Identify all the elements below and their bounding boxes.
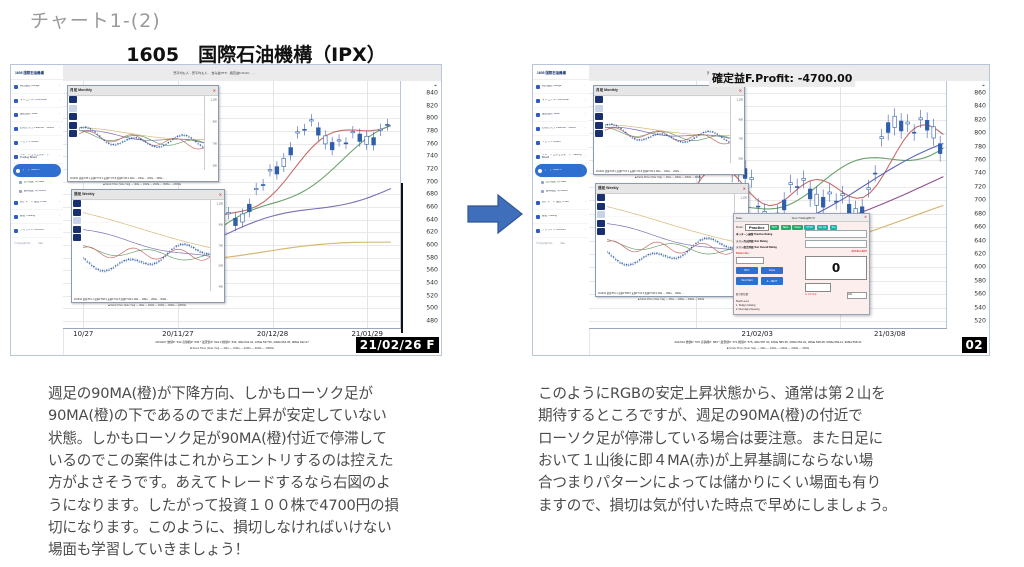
- candle-body: [240, 214, 244, 222]
- right-caption: このようにRGBの安定上昇状態から、通常は第２山を 期待するところですが、週足の…: [538, 383, 968, 517]
- chip-sell[interactable]: SELL: [781, 225, 791, 230]
- right-app-sidebar: 1605 国際石油機構 初回設定 Range › マニュアル Thumbnail…: [533, 65, 590, 355]
- mini-chart-svg: [79, 96, 205, 170]
- candle-body: [227, 213, 231, 214]
- sidebar-item-label: 各チャート 設定 Chart: [20, 201, 57, 204]
- account-icon: [536, 229, 540, 233]
- ma-line: [607, 241, 735, 255]
- chip-close[interactable]: Close: [792, 225, 802, 230]
- chevron-right-icon: ›: [585, 229, 586, 232]
- reset-icon: [14, 141, 18, 145]
- star-icon: [536, 127, 540, 131]
- candle-body: [841, 194, 845, 196]
- unit-value[interactable]: 100: [847, 292, 867, 299]
- sidebar-item-label: 設定選択 Seek: [542, 113, 583, 116]
- sidebar-item-seek[interactable]: 設定選択 Seek ›: [533, 108, 589, 122]
- candle-body: [795, 187, 799, 188]
- date-tick: 10/27: [73, 330, 93, 338]
- close-icon[interactable]: ✕: [743, 187, 746, 191]
- chevron-right-icon: ›: [585, 215, 586, 218]
- panel-price-tick: 900: [219, 223, 223, 226]
- sidebar-item-label: 練習 Trading: [20, 215, 57, 218]
- range-icon: [14, 85, 18, 89]
- price-tick: 640: [974, 237, 986, 244]
- candle-body: [821, 197, 825, 207]
- candle-body: [906, 122, 910, 124]
- panel-price-tick: 500: [213, 165, 217, 168]
- account-icon: [14, 229, 18, 233]
- sidebar-item-practice-trading[interactable]: 練習 Trading ›: [533, 210, 589, 224]
- panel-price-tick: 500: [739, 158, 743, 161]
- price-tick: 580: [974, 277, 986, 284]
- calendar-icon: [19, 181, 22, 184]
- sidebar-item-label: トレードエスエスボード Trading Board: [20, 154, 57, 160]
- sidebar-item-reset[interactable]: リセット Reset: [533, 136, 589, 150]
- calendar-icon: [541, 181, 544, 184]
- tool-button[interactable]: [597, 203, 605, 210]
- candle-body: [893, 116, 897, 127]
- price-tick: 720: [974, 183, 986, 190]
- sidebar-item-range[interactable]: 初回設定 Range ›: [533, 80, 589, 94]
- right-date-badge: 02: [962, 337, 988, 353]
- dialog-footer: 取引単位数: 100 Stock Level: 1. Today's Closi…: [736, 292, 867, 312]
- sidebar-item-label: 初回設定 Range: [20, 85, 57, 88]
- board-icon: [536, 155, 540, 159]
- dialog-right-column: EXCELLENT 0 ※ 1/1 Only: [805, 230, 867, 296]
- ma-line: [607, 240, 735, 254]
- tool-button[interactable]: [73, 209, 81, 216]
- mini-chart-svg: [607, 194, 735, 285]
- price-tick: 780: [974, 143, 986, 150]
- right-price-axis: ⌖ 86084082080078076074072070068066064062…: [946, 81, 989, 329]
- chevron-right-icon: ›: [585, 113, 586, 116]
- price-tick: 660: [974, 224, 986, 231]
- chart-icon: [14, 201, 18, 205]
- tool-button[interactable]: [597, 228, 605, 235]
- candle-body: [808, 189, 812, 199]
- left-app-sidebar: 1605 国際石油機構 初回設定 Range › マニュアル Thumbnail…: [11, 65, 64, 355]
- candle-body: [782, 200, 786, 210]
- left-app-brand: 1605 国際石油機構: [11, 65, 63, 80]
- sidebar-item-chart-settings[interactable]: 各チャート 設定 Chart ›: [11, 196, 63, 210]
- candle-body: [365, 136, 369, 144]
- price-tick: 680: [426, 191, 438, 198]
- price-tick: 580: [426, 254, 438, 261]
- left-chart-screenshot: 1605 国際石油機構 初回設定 Range › マニュアル Thumbnail…: [10, 64, 442, 356]
- price-tick: 500: [426, 305, 438, 312]
- sidebar-item-label: 初回設定 Range: [542, 85, 583, 88]
- left-price-axis: ⌖ 84082080078076074072070068066064062060…: [400, 81, 441, 329]
- left-weekly-panel[interactable]: 週足 Weekly ✕ 1,100900700500400 2019/11 始値…: [71, 189, 225, 303]
- candle-body: [234, 218, 238, 225]
- candle-body: [254, 188, 258, 189]
- panel-price-tick: 900: [739, 118, 743, 121]
- price-tick: 620: [974, 250, 986, 257]
- slide: チャート1-(2) 1605 国際石油機構（IPX） 1605 国際石油機構 初…: [0, 0, 1024, 567]
- candle-body: [275, 167, 279, 174]
- sidebar-item-label: サーチ Search: [544, 169, 581, 172]
- panel-price-tick: 1,100: [737, 99, 744, 102]
- right-weekly-panel[interactable]: 週足 Weekly ✕ 1,100900700500400 2019/11 始値…: [595, 183, 749, 297]
- sidebar-item-label: リセット Reset: [542, 141, 584, 144]
- price-tick: 800: [974, 130, 986, 137]
- panel-title: 週足 Weekly: [74, 192, 95, 197]
- tool-button[interactable]: [69, 122, 77, 129]
- panel-footer: 2019/11 始値 551.1 高値P 568.0 安値P 512.5 終値P…: [74, 297, 222, 301]
- reset-icon: [536, 141, 540, 145]
- chevron-right-icon: ›: [59, 85, 60, 88]
- panel-toolbar[interactable]: [597, 194, 605, 237]
- ma-line: [607, 207, 735, 242]
- panel-plot: [79, 96, 205, 170]
- price-tick: 700: [426, 178, 438, 185]
- tool-button[interactable]: [597, 194, 605, 201]
- chevron-right-icon: ›: [59, 127, 60, 130]
- panel-plot: [83, 200, 211, 291]
- price-tick: 820: [426, 102, 438, 109]
- price-tick: 600: [974, 264, 986, 271]
- sidebar-item-account[interactable]: アカウント Account ›: [11, 224, 63, 238]
- trade-icon: [14, 215, 18, 219]
- price-tick: 820: [974, 116, 986, 123]
- price-tick: 840: [974, 103, 986, 110]
- candle-body: [912, 132, 916, 133]
- sidebar-item-label: リセット Reset: [20, 141, 58, 144]
- price-tick: 740: [426, 153, 438, 160]
- dialog-left-column: 本リターン練習 Practice Rating テスト売出評価 Test Rat…: [736, 232, 798, 285]
- close-icon[interactable]: ✕: [864, 216, 867, 219]
- crosshair-icon: ⌖: [434, 83, 437, 89]
- todays-closing-label: 1. Today's Closing: [736, 304, 755, 307]
- rating-box-2: [805, 240, 867, 248]
- mode-label: Mode:: [736, 226, 743, 229]
- a-next-button[interactable]: A・NEXT: [761, 277, 783, 285]
- sidebar-item-favorite[interactable]: お気に入り Favorite・Brand ›: [533, 122, 589, 136]
- tool-button[interactable]: [595, 122, 603, 129]
- mode-value[interactable]: Practice: [745, 224, 769, 231]
- price-tick: 680: [974, 210, 986, 217]
- right-ohlc-info: 2012/01 始値P: 575 高値終P: 583 * 最安値P: 571 終…: [675, 340, 862, 344]
- close-icon[interactable]: ✕: [219, 193, 222, 197]
- tool-button[interactable]: [73, 234, 81, 241]
- panel-price-tick: 900: [213, 121, 217, 124]
- sidebar-item-by-brand[interactable]: 銘柄指定 by Brand: [533, 187, 589, 196]
- buy-button[interactable]: BUY: [736, 267, 758, 274]
- candle-body: [330, 142, 334, 149]
- panel-toolbar[interactable]: [69, 96, 77, 139]
- sidebar-item-thumbnail[interactable]: マニュアル Thumbnail ›: [11, 94, 63, 108]
- range-icon: [536, 85, 540, 89]
- sidebar-item-by-brand[interactable]: 銘柄指定 by Brand: [11, 187, 63, 196]
- chevron-right-icon: ›: [585, 99, 586, 102]
- panel-title: 月足 Monthly: [596, 88, 618, 93]
- sidebar-item-label: アカウント Account: [542, 229, 583, 232]
- left-ohlc-info: 20/10/27 始値P: 532 高値終P: 533 * 最安値P: 524.…: [155, 340, 308, 344]
- left-axis-marker: [401, 183, 403, 333]
- star-icon: [14, 127, 18, 131]
- chevron-right-icon: ›: [585, 155, 586, 158]
- panel-title: 月足 Monthly: [70, 88, 92, 93]
- tool-button[interactable]: [595, 113, 603, 120]
- panel-toolbar[interactable]: [595, 96, 603, 139]
- candle-body: [372, 138, 376, 145]
- panel-footer: 2010/01 始値 538.1 高値P 574.2 安値P 479.6 終値P…: [596, 169, 742, 173]
- candle-body: [289, 148, 293, 155]
- sidebar-item-label: トレードエスエスボード Trading Board: [542, 154, 583, 160]
- page-title: 1605 国際石油機構（IPX）: [0, 40, 512, 67]
- close-icon[interactable]: ✕: [213, 89, 216, 93]
- chevron-right-icon: ›: [59, 215, 60, 218]
- panel-price-tick: 700: [739, 138, 743, 141]
- unit-label: 取引単位数:: [736, 292, 749, 299]
- tool-button[interactable]: [73, 226, 81, 233]
- sidebar-item-practice-trading[interactable]: 練習 Trading ›: [11, 210, 63, 224]
- tool-button[interactable]: [595, 105, 603, 112]
- dialog-header: Date: Spot Trading(BUY) ✕: [734, 214, 869, 222]
- panel-price-tick: 500: [219, 265, 223, 268]
- price-tick: 620: [426, 229, 438, 236]
- tool-button[interactable]: [69, 130, 77, 137]
- candle-body: [316, 128, 320, 135]
- candle-body: [351, 132, 355, 133]
- candle-body: [932, 127, 936, 138]
- dialog-date-label: Date:: [736, 216, 743, 220]
- chevron-right-icon: ›: [59, 201, 60, 204]
- sidebar-item-by-date[interactable]: 日付指定 by Date: [11, 178, 63, 187]
- candle-body: [867, 188, 871, 190]
- candle-body: [815, 194, 819, 205]
- right-chart-screenshot: 1605 国際石油機構 初回設定 Range › マニュアル Thumbnail…: [532, 64, 990, 356]
- stock-level-label: Stock Level:: [736, 300, 749, 303]
- panel-toolbar[interactable]: [73, 200, 81, 243]
- candle-body: [261, 185, 265, 186]
- tool-button[interactable]: [69, 105, 77, 112]
- test-rating-label: テスト売出評価 Test Rating: [736, 239, 798, 243]
- tool-button[interactable]: [595, 96, 603, 103]
- left-monthly-panel[interactable]: 月足 Monthly ✕ 1,100900700500 2010/01 始値 5…: [67, 85, 219, 182]
- price-tick: 720: [426, 166, 438, 173]
- candle-body: [379, 129, 383, 130]
- sidebar-item-label: 練習 Trading: [542, 215, 583, 218]
- price-tick: 740: [974, 170, 986, 177]
- sidebar-item-range[interactable]: 初回設定 Range ›: [11, 80, 63, 94]
- price-tick: 520: [974, 318, 986, 325]
- chevron-right-icon: ›: [59, 229, 60, 232]
- price-tick: 840: [426, 90, 438, 97]
- ma-line: [83, 246, 211, 260]
- candle-body: [323, 136, 327, 144]
- panel-plot: [607, 194, 735, 285]
- candle-body: [880, 137, 884, 139]
- candle-body: [899, 121, 903, 131]
- right-app-brand: 1605 国際石油機構: [533, 65, 589, 80]
- excellent-badge: EXCELLENT: [805, 250, 867, 253]
- sidebar-item-label: サーチ Search: [22, 169, 55, 172]
- right-weekly-legend: ■ Stock Price (Sole Yaq) — 4Ma — 10Ma — …: [595, 298, 747, 301]
- price-tick: 640: [426, 216, 438, 223]
- tag-icon: [541, 190, 544, 193]
- tool-button[interactable]: [595, 130, 603, 137]
- price-tick: 760: [426, 140, 438, 147]
- candle-body: [873, 173, 877, 174]
- close-button[interactable]: Close: [761, 267, 783, 274]
- chevron-right-icon: ›: [59, 99, 60, 102]
- sidebar-item-label: 銘柄指定 by Brand: [546, 190, 587, 193]
- candle-body: [938, 144, 942, 154]
- candle-body: [802, 178, 806, 180]
- left-app-topbar: 売平均も人…売平均も人… 含み益HTP…確定益F.Profit：…: [63, 65, 441, 82]
- left-date-axis: 20/10/27 始値P: 532 高値終P: 533 * 最安値P: 524.…: [63, 328, 401, 355]
- sidebar-copyright: © Copyright No Sale: [533, 238, 589, 249]
- sidebar-item-label: お気に入り Favorite・Brand: [542, 127, 583, 130]
- sidebar-item-label: 日付指定 by Date: [24, 181, 61, 184]
- candle-body: [750, 178, 754, 180]
- tag-icon: [19, 190, 22, 193]
- candle-body: [925, 120, 929, 130]
- test-overall-rating-label: テスト総合評価 Test Overall Rating: [736, 245, 798, 249]
- tool-button[interactable]: [69, 96, 77, 103]
- close-icon[interactable]: ✕: [739, 89, 742, 93]
- candle-body: [247, 204, 251, 211]
- right-arrow-icon: [466, 192, 524, 236]
- sidebar-item-favorite[interactable]: お気に入り Favorite・Brand ›: [11, 122, 63, 136]
- date-tick: 21/02/03: [742, 330, 773, 338]
- sidebar-item-reset[interactable]: リセット Reset: [11, 136, 63, 150]
- sidebar-item-label: お気に入り Favorite・Brand: [20, 127, 57, 130]
- candle-body: [789, 183, 793, 185]
- chevron-right-icon: ›: [585, 127, 586, 130]
- candle-body: [828, 192, 832, 194]
- panel-price-tick: 1,100: [211, 99, 218, 102]
- chevron-right-icon: ›: [57, 169, 58, 172]
- candle-body: [310, 120, 314, 121]
- sidebar-item-search[interactable]: サーチ Search ›: [535, 164, 587, 178]
- right-monthly-panel[interactable]: 月足 Monthly ✕ 1,100900700500 2010/01 始値 5…: [593, 85, 745, 175]
- price-tick: 560: [974, 291, 986, 298]
- right-series-legend: ■ Stock Price (Sole Yaq) — 4Ma — 10Ma — …: [727, 347, 809, 350]
- tool-button[interactable]: [73, 217, 81, 224]
- chevron-right-icon: ›: [59, 113, 60, 116]
- profit-label: 確定益F.Profit: -4700.00: [709, 69, 855, 87]
- candle-body: [386, 124, 390, 125]
- tool-button[interactable]: [69, 113, 77, 120]
- price-tick: 660: [426, 204, 438, 211]
- sidebar-item-trading-board[interactable]: トレードエスエスボード Trading Board ›: [533, 150, 589, 164]
- price-tick: 760: [974, 157, 986, 164]
- practice-rating-label: 本リターン練習 Practice Rating: [736, 232, 798, 236]
- tool-button[interactable]: [597, 220, 605, 227]
- candle-body: [296, 132, 300, 133]
- sidebar-item-label: マニュアル Thumbnail: [542, 99, 583, 102]
- ma-line: [83, 213, 211, 248]
- candle-body: [303, 129, 307, 130]
- left-weekly-legend: ■ Stock Price (Sole Yaq) — 4Ma — 10Ma — …: [71, 304, 223, 307]
- sidebar-item-by-date[interactable]: 日付指定 by Date: [533, 178, 589, 187]
- next-day-opening-label: 2. Next day's Opening: [736, 308, 759, 311]
- panel-price-tick: 1,100: [741, 197, 748, 200]
- panel-price-tick: 700: [213, 143, 217, 146]
- right-monthly-legend: ■ Stock Price (Sole Yaq) — 4Ma — 10Ma — …: [593, 176, 743, 179]
- panel-price-axis: 1,100900700500: [730, 96, 744, 163]
- price-tick: 600: [426, 242, 438, 249]
- candle-body: [834, 201, 838, 202]
- sidebar-item-label: アカウント Account: [20, 229, 57, 232]
- thumbnail-icon: [14, 99, 18, 103]
- candle-body: [886, 123, 890, 133]
- profit-value-display: 0: [805, 256, 867, 280]
- sidebar-item-label: 各チャート 設定 Chart: [542, 201, 583, 204]
- date-tick: 20/12/28: [257, 330, 288, 338]
- price-tick: 560: [426, 267, 438, 274]
- pattern-no-input[interactable]: [736, 257, 764, 264]
- seek-icon: [536, 113, 540, 117]
- chevron-right-icon: ›: [59, 155, 60, 158]
- tool-button[interactable]: [597, 211, 605, 218]
- panel-price-tick: 400: [219, 286, 223, 289]
- panel-price-tick: 700: [219, 244, 223, 247]
- price-tick: 540: [974, 304, 986, 311]
- left-monthly-legend: ■ Stock Price (Sole Yaq) — 4Ma — 10Ma — …: [67, 183, 217, 186]
- sidebar-item-account[interactable]: アカウント Account ›: [533, 224, 589, 238]
- rating-box-1: [805, 230, 867, 238]
- price-tick: 800: [426, 115, 438, 122]
- quantity-input[interactable]: [805, 283, 831, 292]
- left-series-legend: ■ Stock Price (Sole Yaq) — 4Ma — 10Ma — …: [190, 347, 274, 350]
- mini-chart-svg: [83, 200, 211, 291]
- price-tick: 780: [426, 128, 438, 135]
- crosshair-icon: ⌖: [982, 83, 985, 89]
- sidebar-item-label: 銘柄指定 by Brand: [24, 190, 61, 193]
- left-topbar-text: 売平均も人…売平均も人… 含み益HTP…確定益F.Profit：…: [173, 70, 255, 75]
- candle-body: [919, 118, 923, 120]
- thumbnail-icon: [536, 99, 540, 103]
- price-tick: 860: [974, 90, 986, 97]
- chip-buy[interactable]: BUY: [770, 225, 779, 230]
- ma-line: [83, 247, 211, 260]
- left-date-badge: 21/02/26 F: [356, 337, 439, 353]
- candle-body: [358, 134, 362, 141]
- panel-price-tick: 1,100: [217, 203, 224, 206]
- sidebar-item-label: 日付指定 by Date: [546, 181, 587, 184]
- date-tick: 20/11/27: [162, 330, 193, 338]
- candle-body: [268, 170, 272, 171]
- sidebar-item-search[interactable]: サーチ Search ›: [13, 164, 61, 178]
- sidebar-item-seek[interactable]: 設定選択 Seek ›: [11, 108, 63, 122]
- candle-body: [282, 158, 286, 166]
- chevron-right-icon: ›: [585, 85, 586, 88]
- sidebar-item-trading-board[interactable]: トレードエスエスボード Trading Board ›: [11, 150, 63, 164]
- sidebar-copyright: © Copyright No Sale: [11, 238, 63, 249]
- sidebar-item-thumbnail[interactable]: マニュアル Thumbnail ›: [533, 94, 589, 108]
- sidebar-item-chart-settings[interactable]: 各チャート 設定 Chart ›: [533, 196, 589, 210]
- right-date-axis: 2012/01 始値P: 575 高値終P: 583 * 最安値P: 571 終…: [589, 328, 947, 355]
- mini-chart-svg: [605, 96, 731, 163]
- panel-footer: 2010/01 始値 538.1 高値P 574.2 安値P 479.6 終値P…: [70, 176, 216, 180]
- dialog-title: Spot Trading(BUY): [792, 216, 815, 220]
- spot-trading-dialog[interactable]: Date: Spot Trading(BUY) ✕ Mode: Practice…: [733, 213, 870, 315]
- board-icon: [14, 155, 18, 159]
- candle-body: [344, 143, 348, 144]
- next-start-button[interactable]: Next Start: [736, 277, 758, 285]
- date-tick: 21/03/08: [874, 330, 905, 338]
- tool-button[interactable]: [73, 200, 81, 207]
- chevron-right-icon: ›: [585, 201, 586, 204]
- price-tick: 480: [426, 318, 438, 325]
- panel-price-axis: 1,100900700500400: [210, 200, 224, 291]
- panel-plot: [605, 96, 731, 163]
- pattern-no-label: Pattern No.: [736, 252, 798, 255]
- price-tick: 700: [974, 197, 986, 204]
